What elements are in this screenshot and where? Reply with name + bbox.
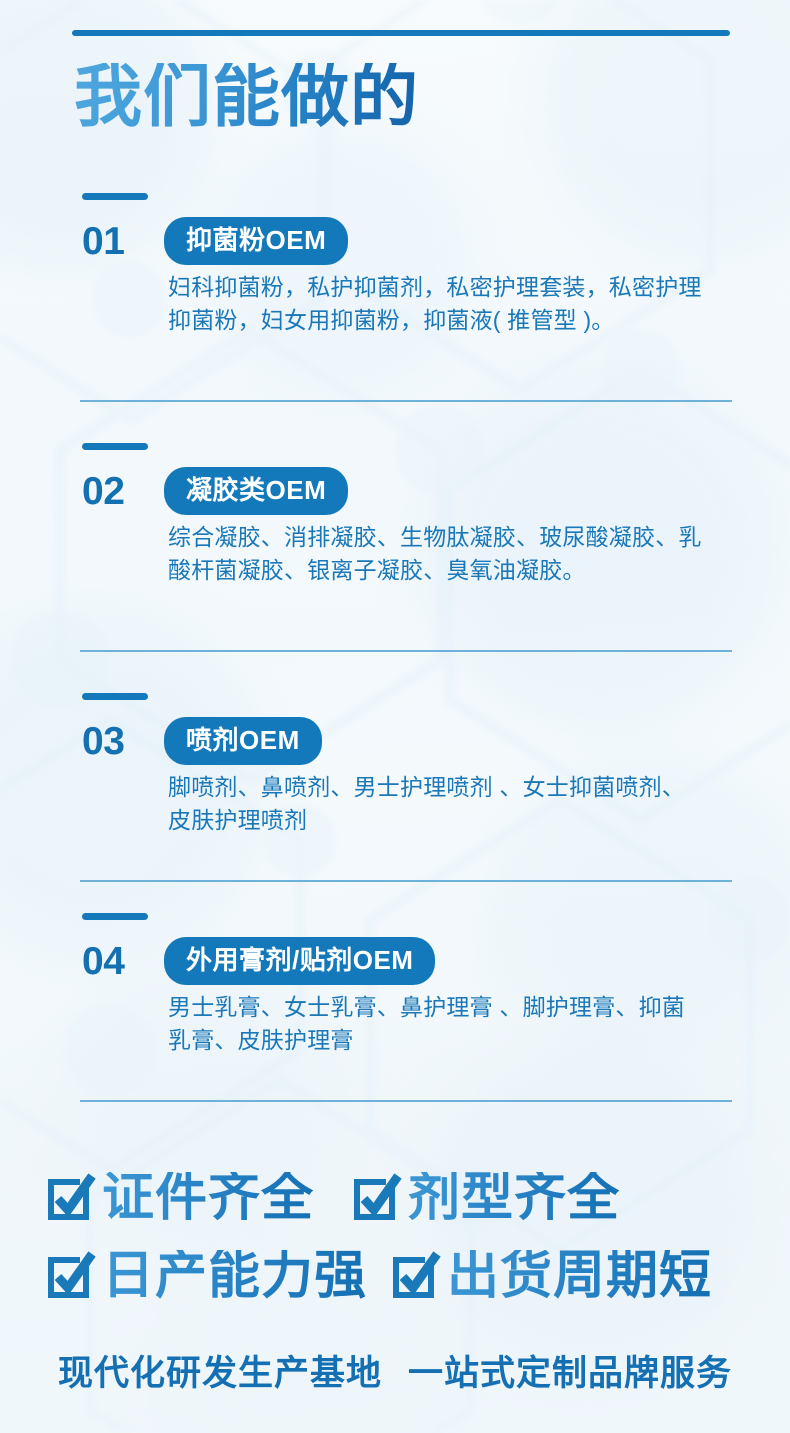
section-divider xyxy=(80,880,732,882)
checkbox-check-icon xyxy=(350,1172,402,1224)
top-divider xyxy=(72,30,730,36)
feature-item-0[interactable]: 证件齐全 xyxy=(44,1172,314,1224)
section-description: 男士乳膏、女士乳膏、鼻护理膏 、脚护理膏、抑菌乳膏、皮肤护理膏 xyxy=(168,991,708,1056)
section-number: 03 xyxy=(82,722,164,761)
section-number: 02 xyxy=(82,472,164,511)
section-dash-marker xyxy=(82,913,148,920)
section-badge[interactable]: 外用膏剂/贴剂OEM xyxy=(164,937,435,985)
feature-label: 出货周期短 xyxy=(447,1250,712,1302)
tagline-right: 一站式定制品牌服务 xyxy=(408,1354,732,1393)
section-dash-marker xyxy=(82,693,148,700)
section-header: 02 凝胶类OEM xyxy=(82,467,348,515)
feature-label: 日产能力强 xyxy=(102,1250,367,1302)
section-divider xyxy=(80,400,732,402)
section-number: 01 xyxy=(82,222,164,261)
section-badge[interactable]: 凝胶类OEM xyxy=(164,467,348,515)
page-root: 我们能做的 01 抑菌粉OEM 妇科抑菌粉，私护抑菌剂，私密护理套装，私密护理抑… xyxy=(0,0,790,1433)
checkbox-check-icon xyxy=(44,1172,96,1224)
section-description: 妇科抑菌粉，私护抑菌剂，私密护理套装，私密护理抑菌粉，妇女用抑菌粉，抑菌液( 推… xyxy=(168,271,708,336)
checkbox-check-icon xyxy=(44,1250,96,1302)
section-description: 综合凝胶、消排凝胶、生物肽凝胶、玻尿酸凝胶、乳酸杆菌凝胶、银离子凝胶、臭氧油凝胶… xyxy=(168,521,708,586)
feature-item-2[interactable]: 日产能力强 xyxy=(44,1250,367,1302)
tagline-left: 现代化研发生产基地 xyxy=(58,1354,382,1393)
section-badge[interactable]: 喷剂OEM xyxy=(164,717,322,765)
feature-row-bottom: 日产能力强 出货周期短 xyxy=(0,1250,790,1328)
feature-checklist: 证件齐全 剂型齐全 日产能力强 xyxy=(0,1172,790,1328)
section-divider xyxy=(80,650,732,652)
section-header: 01 抑菌粉OEM xyxy=(82,217,348,265)
feature-label: 剂型齐全 xyxy=(408,1172,620,1224)
section-divider xyxy=(80,1100,732,1102)
section-dash-marker xyxy=(82,193,148,200)
feature-label: 证件齐全 xyxy=(102,1172,314,1224)
section-header: 03 喷剂OEM xyxy=(82,717,322,765)
page-title: 我们能做的 xyxy=(74,63,419,131)
section-number: 04 xyxy=(82,942,164,981)
checkbox-check-icon xyxy=(389,1250,441,1302)
footer-tagline: 现代化研发生产基地一站式定制品牌服务 xyxy=(0,1345,790,1396)
section-dash-marker xyxy=(82,443,148,450)
feature-item-3[interactable]: 出货周期短 xyxy=(389,1250,712,1302)
section-badge[interactable]: 抑菌粉OEM xyxy=(164,217,348,265)
section-header: 04 外用膏剂/贴剂OEM xyxy=(82,937,435,985)
section-description: 脚喷剂、鼻喷剂、男士护理喷剂 、女士抑菌喷剂、皮肤护理喷剂 xyxy=(168,771,708,836)
feature-item-1[interactable]: 剂型齐全 xyxy=(350,1172,620,1224)
feature-row-top: 证件齐全 剂型齐全 xyxy=(0,1172,790,1250)
